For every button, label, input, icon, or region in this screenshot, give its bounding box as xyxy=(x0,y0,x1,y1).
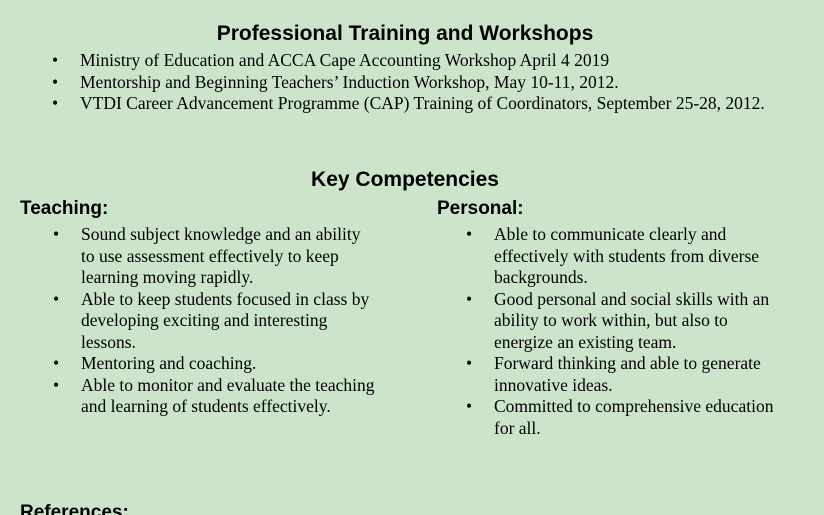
list-item-text: Forward thinking and able to generate in… xyxy=(494,353,761,395)
teaching-competencies-list: Sound subject knowledge and an ability t… xyxy=(53,224,375,418)
list-item: Able to monitor and evaluate the teachin… xyxy=(53,375,375,418)
list-item-text: Ministry of Education and ACCA Cape Acco… xyxy=(80,50,609,70)
section-heading-references: References: xyxy=(20,502,129,515)
section-heading-professional-training: Professional Training and Workshops xyxy=(0,22,810,46)
list-item-text: Committed to comprehensive education for… xyxy=(494,396,773,438)
section-heading-key-competencies: Key Competencies xyxy=(0,168,810,192)
document-page: Professional Training and Workshops Mini… xyxy=(0,0,824,515)
list-item: Sound subject knowledge and an ability t… xyxy=(53,224,375,289)
list-item: Mentoring and coaching. xyxy=(53,353,375,375)
list-item-text: Good personal and social skills with an … xyxy=(494,289,769,352)
list-item: Forward thinking and able to generate in… xyxy=(466,353,786,396)
list-item-text: Mentoring and coaching. xyxy=(81,353,256,373)
list-item-text: Able to monitor and evaluate the teachin… xyxy=(81,375,375,417)
list-item: VTDI Career Advancement Programme (CAP) … xyxy=(52,93,792,115)
list-item-text: Sound subject knowledge and an ability t… xyxy=(81,224,360,287)
column-heading-teaching: Teaching: xyxy=(20,198,108,220)
list-item: Able to communicate clearly and effectiv… xyxy=(466,224,786,289)
list-item-text: Mentorship and Beginning Teachers’ Induc… xyxy=(80,72,619,92)
list-item: Committed to comprehensive education for… xyxy=(466,396,786,439)
list-item: Able to keep students focused in class b… xyxy=(53,289,375,354)
list-item: Good personal and social skills with an … xyxy=(466,289,786,354)
list-item-text: Able to keep students focused in class b… xyxy=(81,289,369,352)
list-item-text: VTDI Career Advancement Programme (CAP) … xyxy=(80,93,765,113)
personal-competencies-list: Able to communicate clearly and effectiv… xyxy=(466,224,786,439)
training-list: Ministry of Education and ACCA Cape Acco… xyxy=(52,50,792,115)
list-item: Ministry of Education and ACCA Cape Acco… xyxy=(52,50,792,72)
column-heading-personal: Personal: xyxy=(437,198,524,220)
list-item-text: Able to communicate clearly and effectiv… xyxy=(494,224,759,287)
list-item: Mentorship and Beginning Teachers’ Induc… xyxy=(52,72,792,94)
